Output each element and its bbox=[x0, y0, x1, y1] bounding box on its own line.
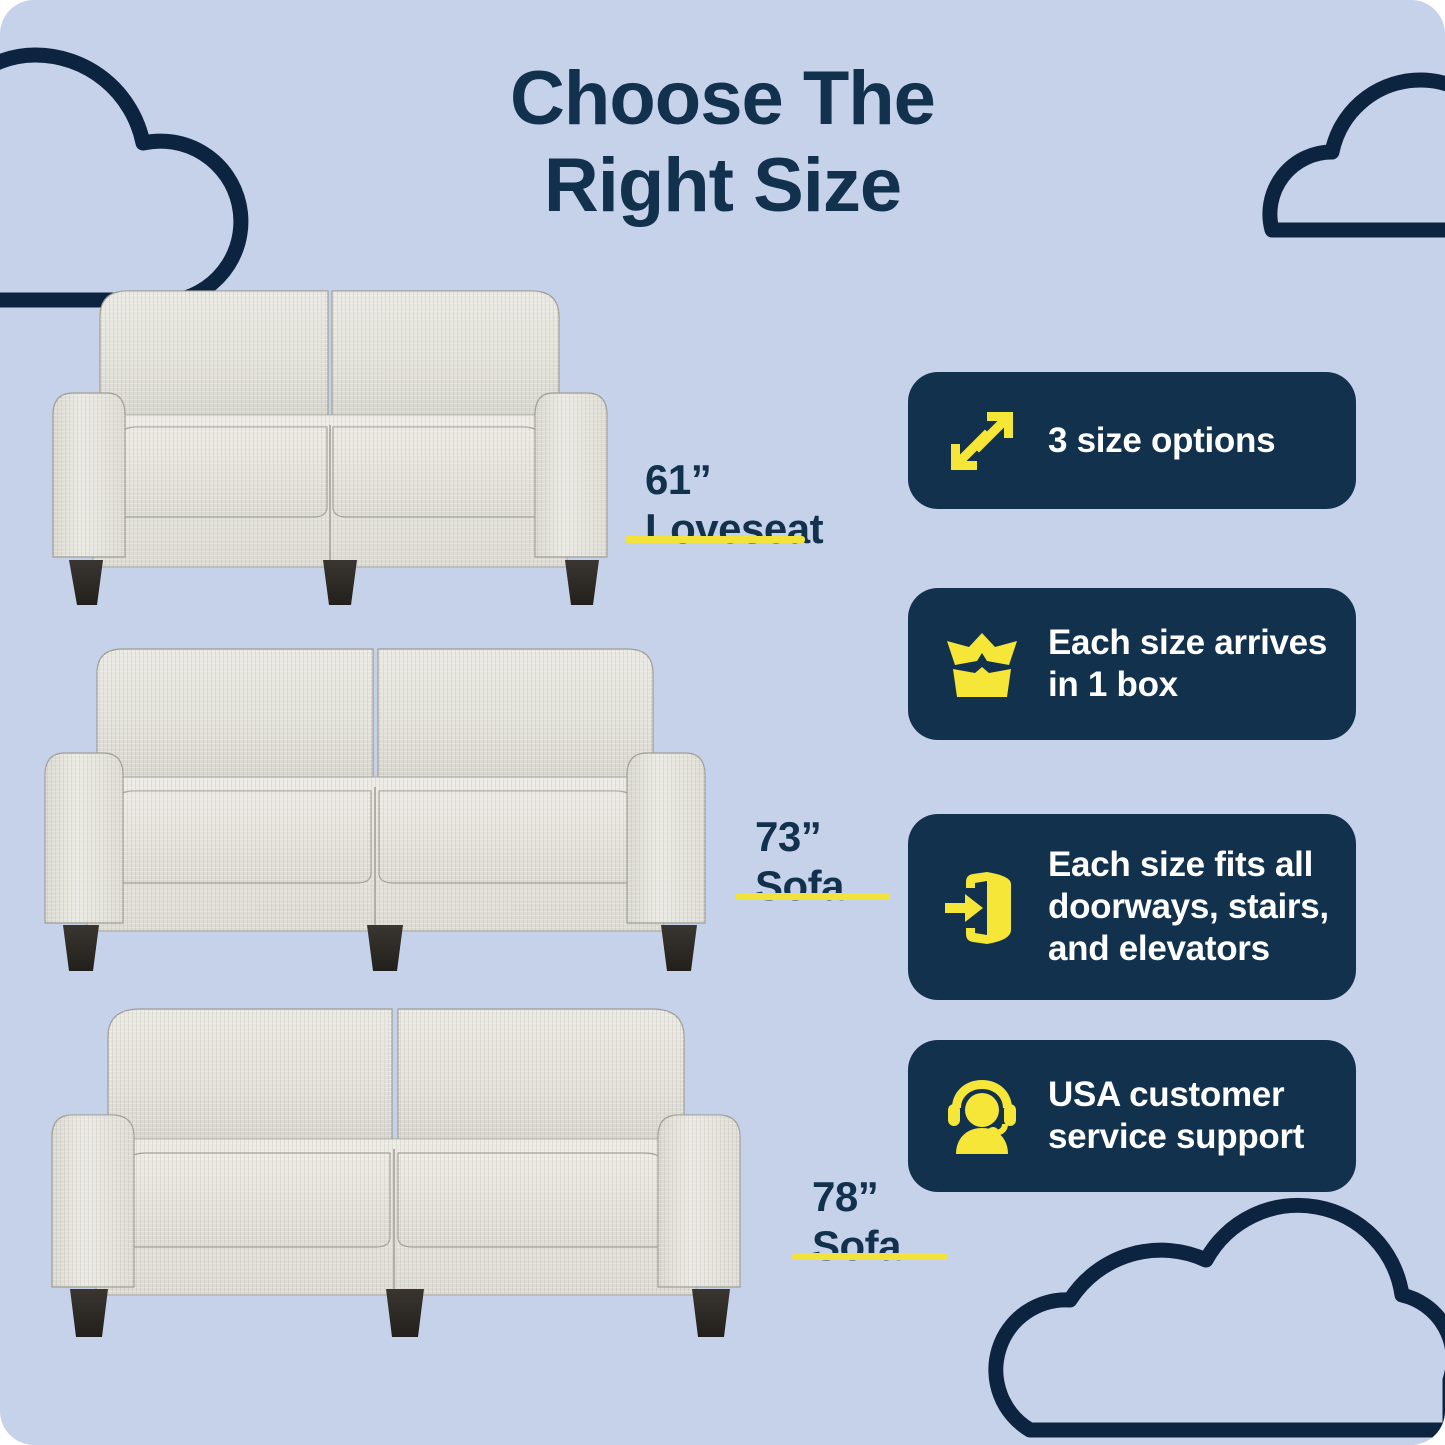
feature-card-size-options[interactable]: 3 size options bbox=[908, 372, 1356, 509]
headset-support-icon bbox=[938, 1072, 1026, 1160]
sofa-78-dimension: 78” bbox=[812, 1172, 901, 1221]
underline-sofa-73 bbox=[735, 893, 890, 900]
underline-sofa-78 bbox=[792, 1253, 947, 1260]
product-row-sofa-78 bbox=[40, 995, 800, 1345]
loveseat-image bbox=[45, 275, 645, 620]
feature-line: and elevators bbox=[1048, 928, 1329, 970]
cloud-bottom-right-icon bbox=[996, 1205, 1445, 1430]
sofa-78-image bbox=[40, 995, 800, 1345]
underline-loveseat bbox=[625, 536, 805, 543]
feature-label-fits-doorways: Each size fits all doorways, stairs, and… bbox=[1048, 844, 1329, 970]
page-title: Choose The Right Size bbox=[0, 56, 1445, 229]
feature-label-customer-support: USA customer service support bbox=[1048, 1074, 1304, 1158]
feature-label-one-box: Each size arrives in 1 box bbox=[1048, 622, 1327, 706]
loveseat-kind: Loveseat bbox=[645, 504, 823, 553]
feature-line: Each size arrives bbox=[1048, 622, 1327, 664]
sofa-73-dimension: 73” bbox=[755, 812, 844, 861]
title-line-2: Right Size bbox=[0, 143, 1445, 230]
feature-card-fits-doorways[interactable]: Each size fits all doorways, stairs, and… bbox=[908, 814, 1356, 1000]
resize-arrows-icon bbox=[938, 397, 1026, 485]
sofa-78-kind: Sofa bbox=[812, 1221, 901, 1270]
sofa-73-kind: Sofa bbox=[755, 861, 844, 910]
feature-label-size-options: 3 size options bbox=[1048, 420, 1275, 462]
feature-line: Each size fits all bbox=[1048, 844, 1329, 886]
loveseat-dimension: 61” bbox=[645, 455, 823, 504]
title-line-1: Choose The bbox=[0, 56, 1445, 143]
product-row-sofa-73 bbox=[35, 635, 745, 980]
infographic-canvas: Choose The Right Size bbox=[0, 0, 1445, 1445]
feature-line: in 1 box bbox=[1048, 664, 1327, 706]
feature-card-customer-support[interactable]: USA customer service support bbox=[908, 1040, 1356, 1192]
product-row-loveseat bbox=[45, 275, 645, 620]
feature-line: service support bbox=[1048, 1116, 1304, 1158]
feature-card-one-box[interactable]: Each size arrives in 1 box bbox=[908, 588, 1356, 740]
feature-line: 3 size options bbox=[1048, 420, 1275, 462]
open-box-icon bbox=[938, 620, 1026, 708]
feature-line: USA customer bbox=[1048, 1074, 1304, 1116]
feature-line: doorways, stairs, bbox=[1048, 886, 1329, 928]
doorway-entry-icon bbox=[938, 863, 1026, 951]
sofa-73-image bbox=[35, 635, 745, 980]
